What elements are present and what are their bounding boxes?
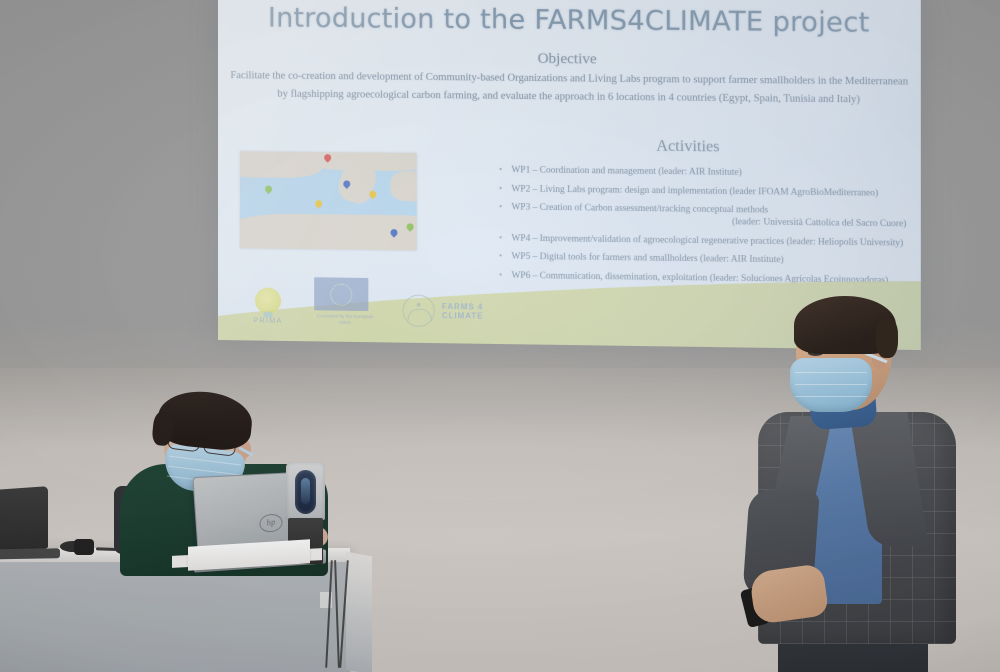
slide-logo-strip: PRIMA Co-funded by the European Union FA… <box>248 276 483 327</box>
standing-presenter <box>722 300 980 672</box>
mediterranean-map-image <box>240 151 417 250</box>
activity-item-wp1: WP1 – Coordination and management (leade… <box>497 166 906 180</box>
activity-item-wp3: WP3 – Creation of Carbon assessment/trac… <box>497 204 906 230</box>
farms4climate-mark-icon <box>403 294 435 327</box>
hanging-cables <box>322 560 366 672</box>
second-laptop[interactable] <box>0 486 48 552</box>
eu-logo-caption: Co-funded by the European Union <box>314 313 376 326</box>
farms4climate-logo: FARMS 4 CLIMATE <box>403 294 484 327</box>
lightbulb-icon <box>255 287 281 313</box>
objective-body: Facilitate the co-creation and developme… <box>230 67 909 109</box>
speaker-body <box>286 462 325 520</box>
desk-knob[interactable] <box>74 539 94 555</box>
projected-slide: Introduction to the FARMS4CLIMATE projec… <box>218 0 921 350</box>
activities-heading: Activities <box>457 135 921 158</box>
prima-logo: PRIMA <box>248 287 288 325</box>
farms4climate-line2: CLIMATE <box>442 311 484 321</box>
slide-title: Introduction to the FARMS4CLIMATE projec… <box>218 2 921 39</box>
presenter-face-mask <box>790 358 872 412</box>
activity-text: WP4 – Improvement/validation of agroecol… <box>511 233 903 248</box>
activity-text: WP1 – Coordination and management (leade… <box>511 166 741 179</box>
speaker-display <box>295 470 316 514</box>
presentation-room-photo: Introduction to the FARMS4CLIMATE projec… <box>0 0 1000 672</box>
map-landmass <box>390 171 416 202</box>
eu-logo: Co-funded by the European Union <box>314 277 376 326</box>
prima-logo-caption: PRIMA <box>248 317 288 325</box>
eu-stars-icon <box>330 283 352 305</box>
activity-text: WP3 – Creation of Carbon assessment/trac… <box>511 203 768 216</box>
eu-flag-icon <box>314 277 368 311</box>
activity-continuation: (leader: Università Cattolica del Sacro … <box>511 216 906 230</box>
farms4climate-wordmark: FARMS 4 CLIMATE <box>442 302 484 321</box>
presenter-hair <box>794 296 896 354</box>
activity-item-wp4: WP4 – Improvement/validation of agroecol… <box>497 234 906 248</box>
activity-item-wp2: WP2 – Living Labs program: design and im… <box>497 185 906 199</box>
activity-text: WP2 – Living Labs program: design and im… <box>511 184 878 198</box>
hp-logo: hp <box>258 513 283 534</box>
